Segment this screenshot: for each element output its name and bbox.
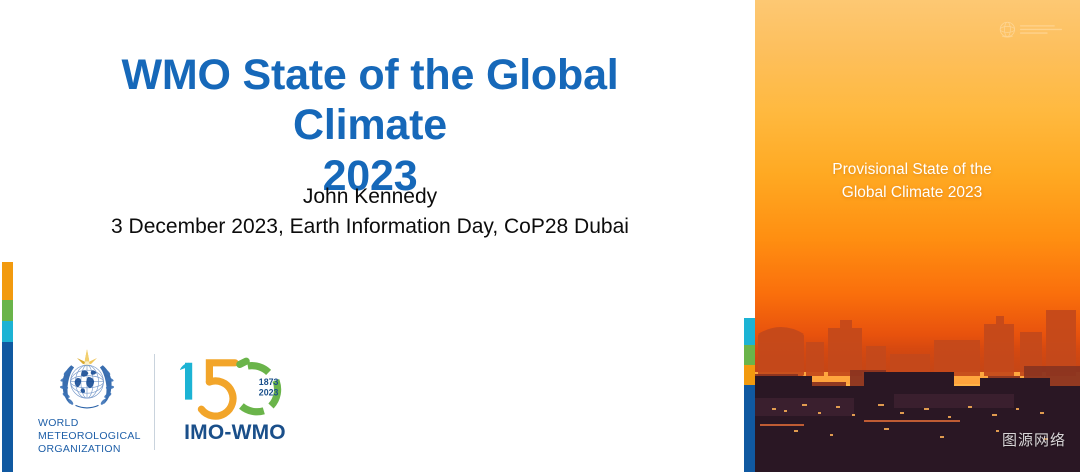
- cover-left-edge-spacer: [744, 0, 755, 318]
- wmo-wordmark-line-2: METEOROLOGICAL: [38, 430, 146, 443]
- accent-segment-green: [2, 300, 13, 321]
- slide-title-block: WMO State of the Global Climate 2023: [40, 50, 700, 201]
- logo-row: WORLD METEOROLOGICAL ORGANIZATION: [28, 348, 299, 460]
- page-title: WMO State of the Global Climate 2023: [40, 50, 700, 201]
- anniversary-year-to-text: 2023: [259, 388, 279, 398]
- cover-accent-segment-orange: [744, 365, 755, 385]
- cover-accent-segment-blue: [744, 385, 755, 472]
- logo-divider: [154, 354, 155, 450]
- image-source-watermark: 图源网络: [1002, 429, 1066, 450]
- wmo-globe-emblem-icon: [51, 348, 123, 414]
- cover-accent-color-bar: [744, 318, 755, 472]
- anniversary-year-from-text: 1873: [259, 377, 279, 387]
- anniversary-logo: 1873 2023 IMO-WMO: [171, 350, 299, 445]
- wmo-wordmark-line-1: WORLD: [38, 417, 146, 430]
- author-name: John Kennedy: [40, 182, 700, 212]
- cover-accent-segment-cyan: [744, 318, 755, 345]
- wmo-wordmark-line-3: ORGANIZATION: [38, 443, 146, 456]
- event-details: 3 December 2023, Earth Information Day, …: [40, 212, 700, 242]
- accent-color-bar: [2, 262, 13, 472]
- accent-segment-blue: [2, 342, 13, 472]
- accent-segment-orange: [2, 262, 13, 300]
- presentation-slide: WMO State of the Global Climate 2023 Joh…: [0, 0, 1080, 472]
- cover-title: Provisional State of the Global Climate …: [744, 158, 1080, 205]
- city-skyline-near: [744, 368, 1080, 472]
- cover-title-line-1: Provisional State of the: [786, 158, 1038, 181]
- anniversary-150-icon: 1873 2023: [171, 350, 299, 422]
- page-title-line-1: WMO State of the Global Climate: [121, 51, 618, 149]
- anniversary-wordmark: IMO-WMO: [184, 421, 286, 445]
- wmo-logo: WORLD METEOROLOGICAL ORGANIZATION: [28, 348, 146, 456]
- slide-left-pane: WMO State of the Global Climate 2023 Joh…: [0, 0, 744, 472]
- cover-accent-segment-green: [744, 345, 755, 365]
- wmo-logo-watermark-icon: [996, 18, 1068, 44]
- slide-subtitle-block: John Kennedy 3 December 2023, Earth Info…: [40, 182, 700, 243]
- report-cover-image: Provisional State of the Global Climate …: [744, 0, 1080, 472]
- accent-segment-cyan: [2, 321, 13, 342]
- wmo-wordmark: WORLD METEOROLOGICAL ORGANIZATION: [28, 417, 146, 456]
- cover-title-line-2: Global Climate 2023: [786, 181, 1038, 204]
